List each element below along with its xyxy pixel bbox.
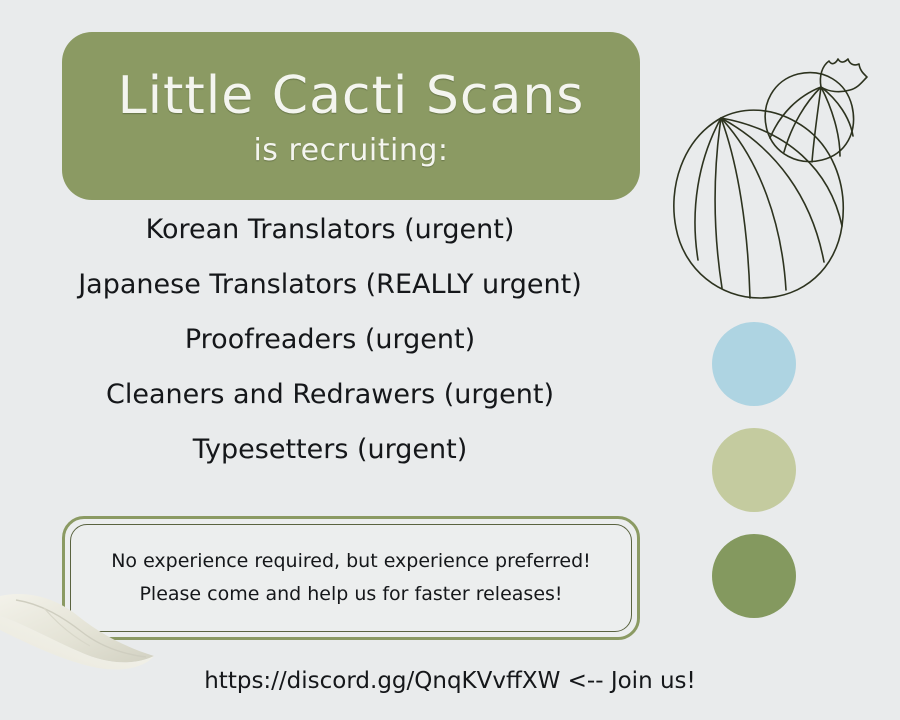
recruitment-poster: Little Cacti Scans is recruiting: [0,0,900,720]
note-box-inner-border: No experience required, but experience p… [70,524,632,632]
palette-swatches [712,322,802,618]
roles-list: Korean Translators (urgent) Japanese Tra… [0,216,660,491]
swatch-sage [712,428,796,512]
discord-invite-link[interactable]: https://discord.gg/QnqKVvffXW <-- Join u… [0,668,900,694]
role-item-typesetters: Typesetters (urgent) [0,436,660,463]
note-line-experience: No experience required, but experience p… [111,552,591,571]
cactus-illustration [664,44,896,310]
header-banner: Little Cacti Scans is recruiting: [62,32,640,200]
role-item-korean-translators: Korean Translators (urgent) [0,216,660,243]
page-title: Little Cacti Scans [118,70,585,123]
note-line-invitation: Please come and help us for faster relea… [139,585,562,604]
role-item-proofreaders: Proofreaders (urgent) [0,326,660,353]
role-item-cleaners-redrawers: Cleaners and Redrawers (urgent) [0,381,660,408]
swatch-olive [712,534,796,618]
role-item-japanese-translators: Japanese Translators (REALLY urgent) [0,271,660,298]
swatch-light-blue [712,322,796,406]
note-box: No experience required, but experience p… [62,516,640,640]
recruiting-subtitle: is recruiting: [253,133,448,168]
